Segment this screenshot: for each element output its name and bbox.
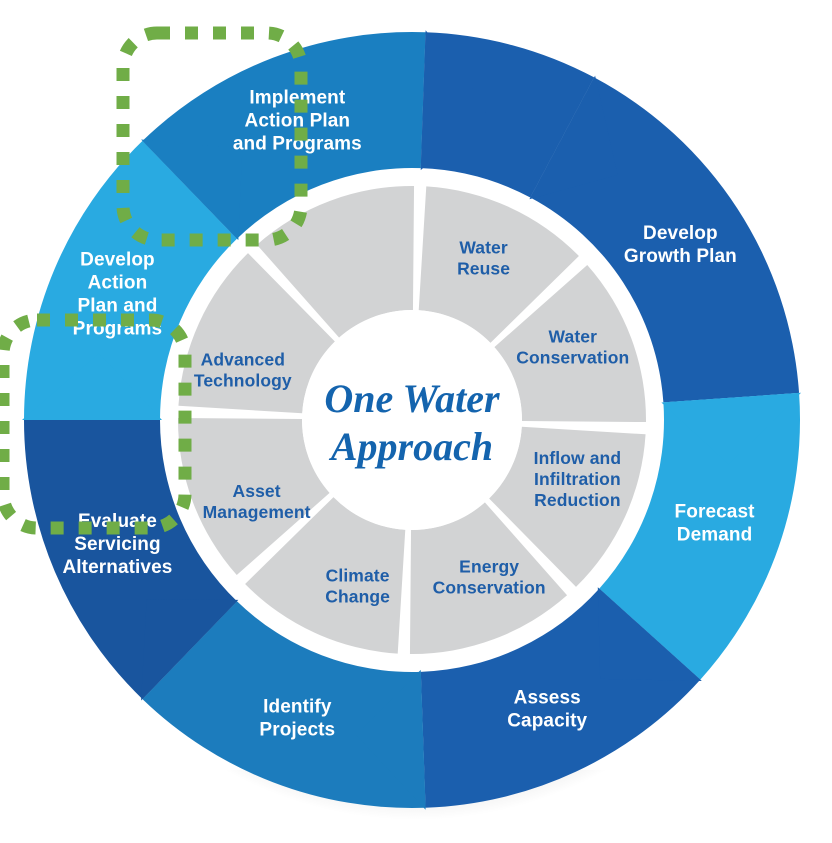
inner-segment-climate-change-label: Climate xyxy=(326,566,390,586)
inner-segment-energy-conservation-label: Conservation xyxy=(433,577,546,597)
outer-segment-assess-capacity-label: Capacity xyxy=(507,711,587,732)
center-title-line-2: Approach xyxy=(328,424,493,469)
center-title-line-1: One Water xyxy=(324,376,500,421)
inner-segment-inflow-and-infiltration-reduction-label: Reduction xyxy=(534,490,620,510)
outer-segment-identify-projects-label: Projects xyxy=(259,719,335,740)
outer-segment-forecast-demand-label: Demand xyxy=(677,525,753,546)
outer-segment-develop-growth-plan-label: Develop xyxy=(643,223,718,244)
inner-segment-advanced-technology-label: Advanced xyxy=(201,350,285,370)
inner-segment-climate-change-label: Change xyxy=(325,587,390,607)
outer-segment-develop-action-plan-and-programs-label: Programs xyxy=(73,318,163,339)
outer-segment-evaluate-servicing-alternatives-label: Alternatives xyxy=(62,557,172,578)
inner-segment-water-reuse-label: Reuse xyxy=(457,258,510,278)
outer-segment-develop-action-plan-and-programs-label: Develop xyxy=(80,249,155,270)
inner-segment-water-conservation-label: Water xyxy=(549,327,598,347)
inner-segment-asset-management-label: Asset xyxy=(233,481,281,501)
outer-segment-develop-growth-plan-label: Growth Plan xyxy=(624,246,737,267)
outer-segment-evaluate-servicing-alternatives-label: Servicing xyxy=(74,534,160,555)
inner-segment-inflow-and-infiltration-reduction-label: Infiltration xyxy=(534,469,621,489)
inner-segment-advanced-technology-label: Technology xyxy=(194,371,292,391)
diagram-canvas: One Water Approach DevelopGrowth PlanFor… xyxy=(0,0,832,843)
inner-segment-energy-conservation-label: Energy xyxy=(459,556,519,576)
inner-segment-water-reuse-label: Water xyxy=(459,237,508,257)
one-water-approach-diagram: One Water Approach DevelopGrowth PlanFor… xyxy=(0,0,832,843)
outer-segment-develop-action-plan-and-programs-label: Plan and xyxy=(77,295,157,316)
inner-segment-water-conservation-label: Conservation xyxy=(516,348,629,368)
outer-segment-identify-projects-label: Identify xyxy=(263,696,332,717)
outer-segment-develop-action-plan-and-programs-label: Action xyxy=(88,272,148,293)
outer-segment-forecast-demand-label: Forecast xyxy=(675,502,756,523)
inner-segment-inflow-and-infiltration-reduction-label: Inflow and xyxy=(534,448,622,468)
outer-segment-assess-capacity-label: Assess xyxy=(514,688,581,709)
inner-segment-asset-management-label: Management xyxy=(203,502,311,522)
